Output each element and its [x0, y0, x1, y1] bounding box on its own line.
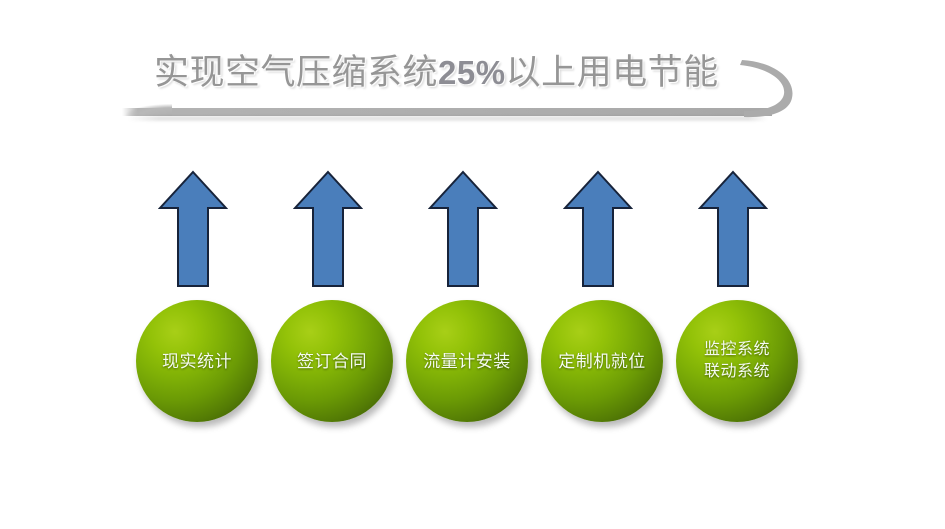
title-banner: 实现空气压缩系统25%以上用电节能: [118, 38, 788, 130]
step-label-3: 流量计安装: [419, 350, 515, 373]
step-label-1: 现实统计: [158, 350, 236, 373]
up-arrow-icon: [428, 170, 498, 288]
banner-rail: [122, 108, 772, 116]
banner-rail-shadow: [128, 116, 768, 121]
step-circle-4[interactable]: 定制机就位: [541, 300, 663, 422]
up-arrow-icon: [293, 170, 363, 288]
up-arrow-icon: [158, 170, 228, 288]
step-label-2: 签订合同: [293, 350, 371, 373]
up-arrow-icon: [698, 170, 768, 288]
step-circle-5[interactable]: 监控系统 联动系统: [676, 300, 798, 422]
step-circle-1[interactable]: 现实统计: [136, 300, 258, 422]
title-part-before: 实现空气压缩系统: [154, 53, 438, 92]
slide-canvas: 实现空气压缩系统25%以上用电节能 现实统计 签订合同 流量计安装: [0, 0, 945, 529]
up-arrow-icon: [563, 170, 633, 288]
step-circle-3[interactable]: 流量计安装: [406, 300, 528, 422]
title-part-after: 以上用电节能: [506, 53, 719, 92]
page-title: 实现空气压缩系统25%以上用电节能: [154, 42, 754, 104]
step-label-5: 监控系统 联动系统: [700, 339, 774, 383]
step-circle-2[interactable]: 签订合同: [271, 300, 393, 422]
step-label-4: 定制机就位: [554, 350, 650, 373]
title-highlight: 25%: [438, 54, 506, 91]
